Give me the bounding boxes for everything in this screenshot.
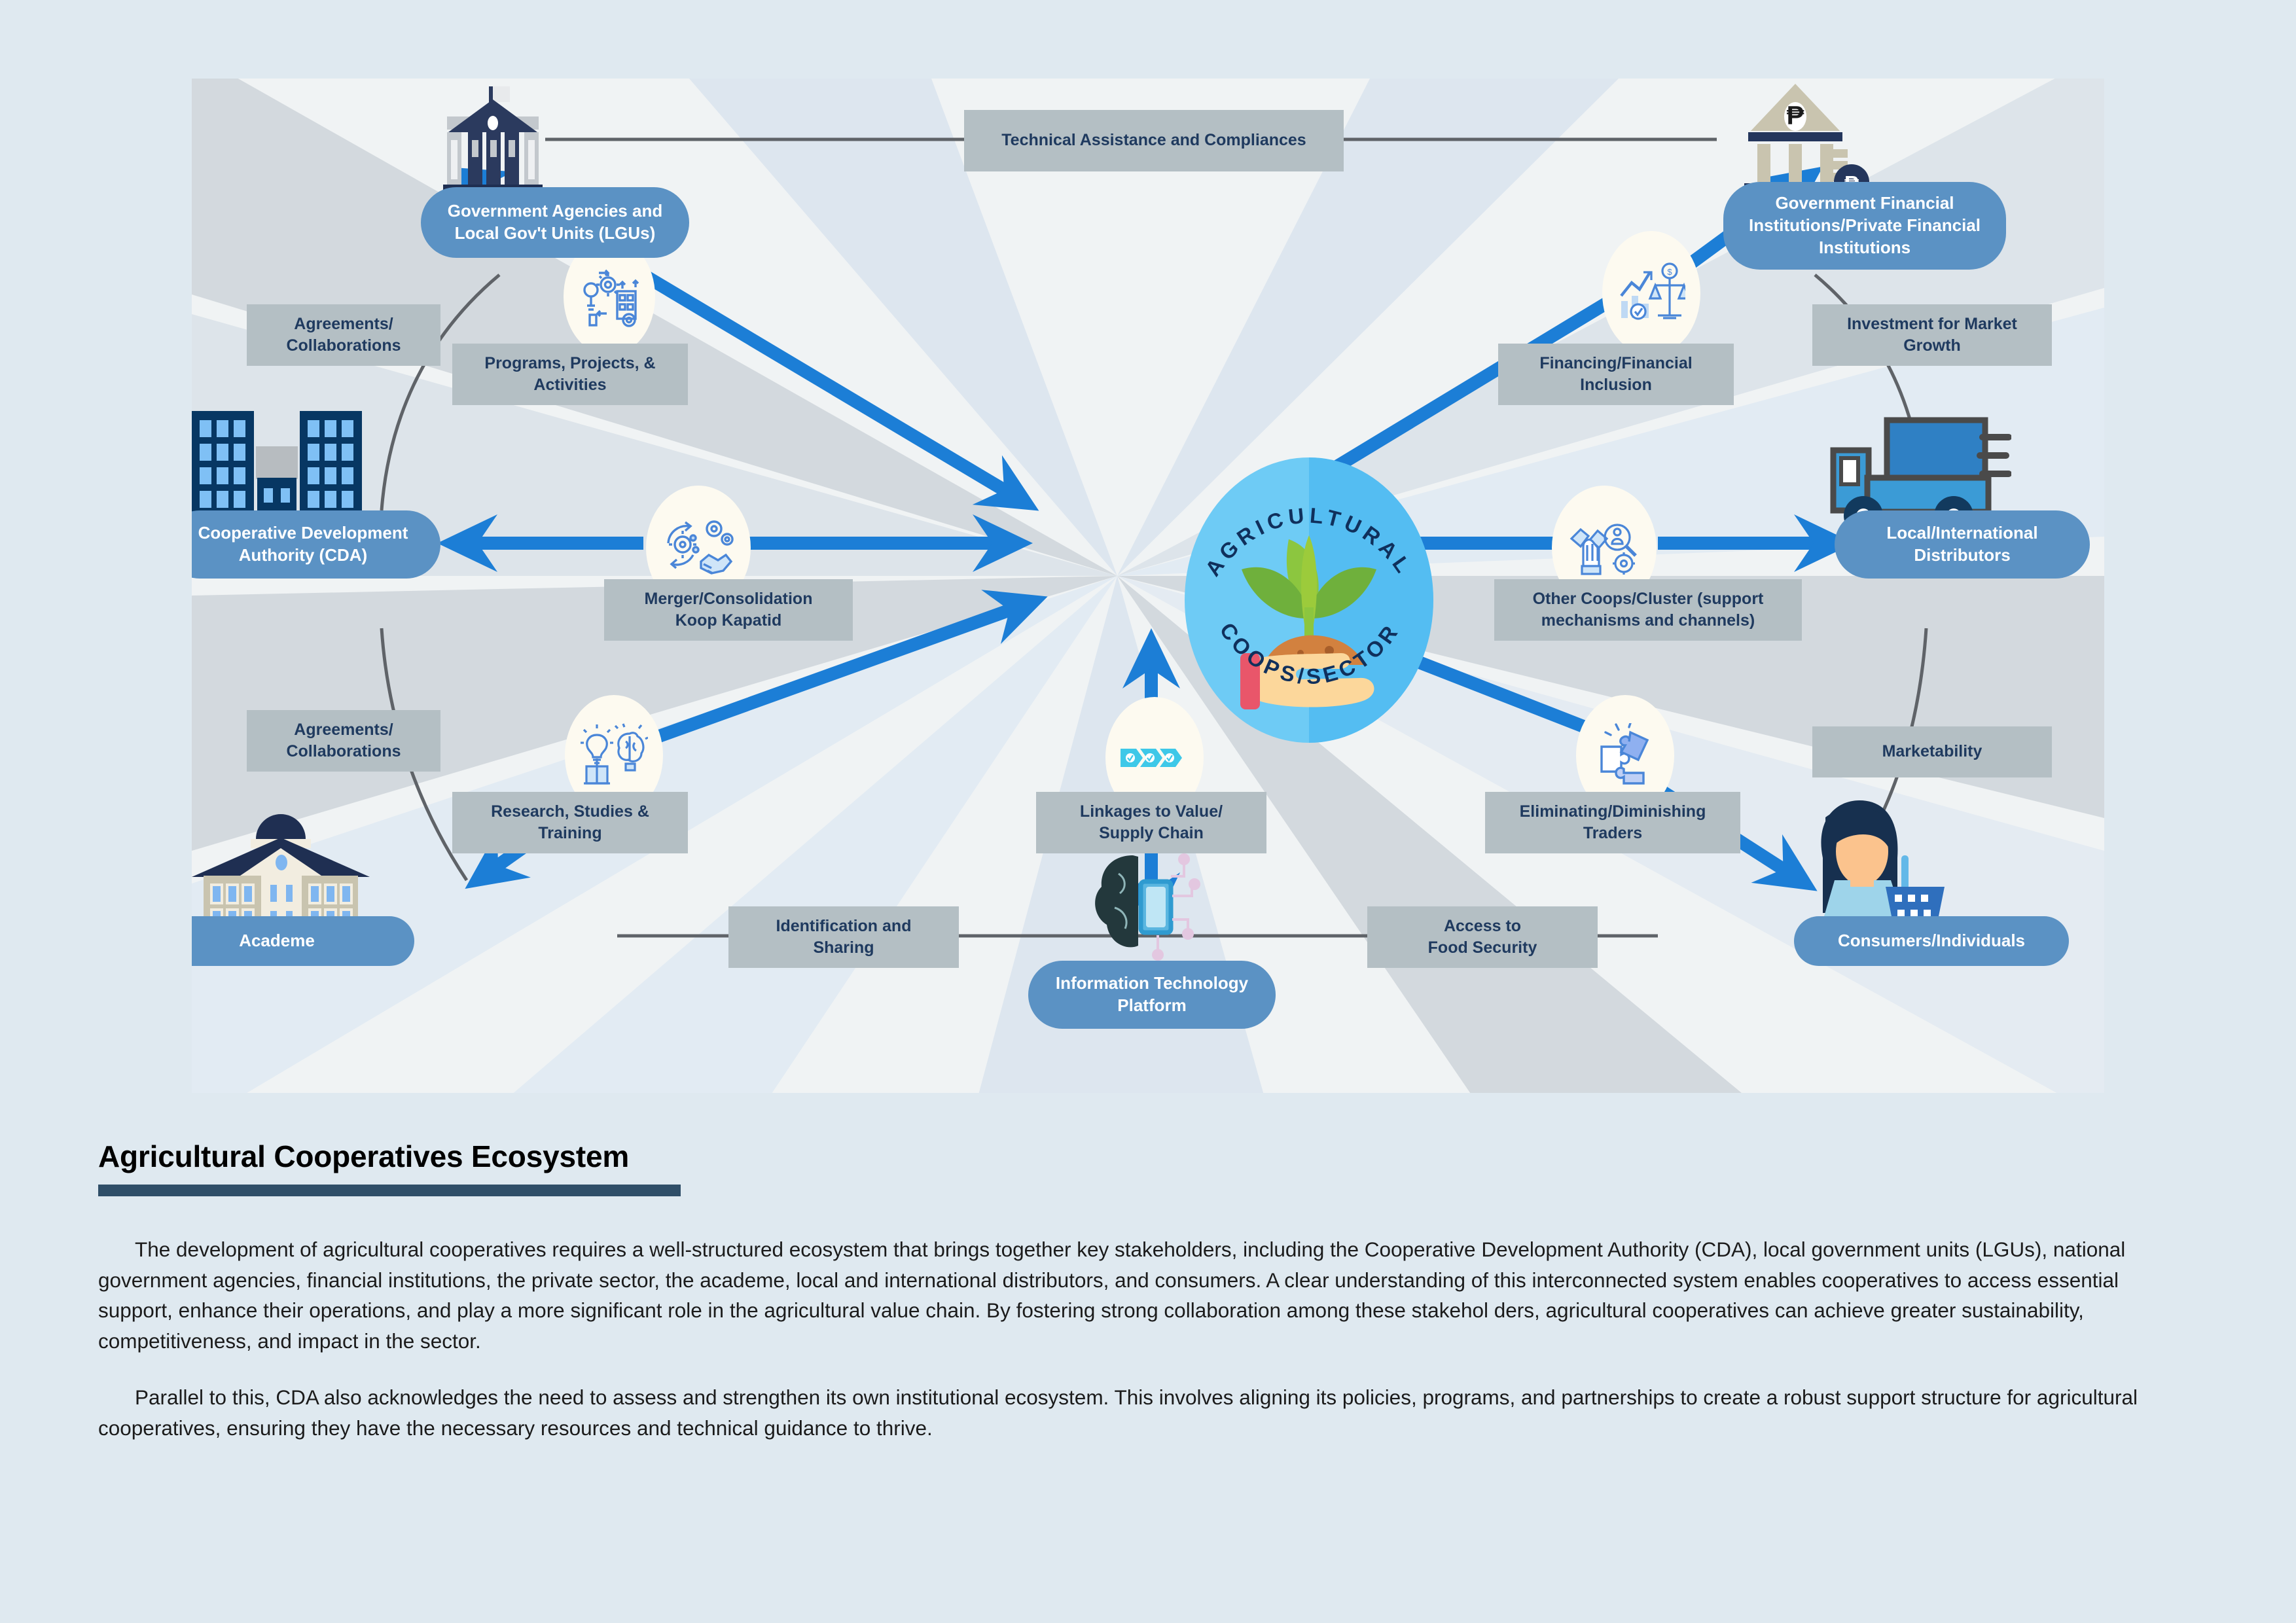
label-merger-consolidation: Merger/Consolidation Koop Kapatid <box>604 579 853 641</box>
label-text: Programs, Projects, & Activities <box>484 353 655 397</box>
svg-text:$: $ <box>1667 267 1672 277</box>
node-academe[interactable]: Academe <box>192 916 414 966</box>
label-text: Linkages to Value/ Supply Chain <box>1080 801 1223 845</box>
shopper-with-basket-icon <box>1789 795 1952 936</box>
label-technical-assistance-and-compliances: Technical Assistance and Compliances <box>964 110 1344 171</box>
node-government-agencies[interactable]: Government Agencies and Local Gov't Unit… <box>421 187 689 258</box>
node-it-platform[interactable]: Information Technology Platform <box>1028 961 1276 1029</box>
label-text: Agreements/ Collaborations <box>286 313 401 357</box>
node-label: Information Technology Platform <box>1056 972 1248 1017</box>
label-text: Other Coops/Cluster (support mechanisms … <box>1533 588 1764 632</box>
node-label: Consumers/Individuals <box>1838 930 2025 952</box>
label-text: Eliminating/Diminishing Traders <box>1520 801 1706 845</box>
label-other-coops-cluster: Other Coops/Cluster (support mechanisms … <box>1494 579 1802 641</box>
label-marketability: Marketability <box>1812 726 2052 777</box>
brain-chip-icon <box>1086 847 1217 962</box>
growth-chart-scales-icon: $ <box>1602 231 1700 355</box>
label-linkages-value-supply-chain: Linkages to Value/ Supply Chain <box>1036 792 1266 853</box>
node-label: Local/International Distributors <box>1886 522 2037 567</box>
node-financial-institutions[interactable]: Government Financial Institutions/Privat… <box>1723 182 2006 270</box>
node-distributors[interactable]: Local/International Distributors <box>1835 510 2090 579</box>
label-text: Identification and Sharing <box>776 916 912 959</box>
article-section: Agricultural Cooperatives Ecosystem The … <box>98 1139 2179 1470</box>
node-cda[interactable]: Cooperative Development Authority (CDA) <box>192 510 440 579</box>
label-text: Investment for Market Growth <box>1847 313 2017 357</box>
label-access-to-food-security: Access to Food Security <box>1367 906 1598 968</box>
label-text: Marketability <box>1882 741 1982 763</box>
label-investment-for-market-growth: Investment for Market Growth <box>1812 304 2052 366</box>
label-text: Research, Studies & Training <box>491 801 649 845</box>
label-text: Access to Food Security <box>1428 916 1537 959</box>
label-text: Financing/Financial Inclusion <box>1539 353 1692 397</box>
ecosystem-diagram-panel: AGRICULTURAL COOPS/SECTOR <box>192 79 2104 1093</box>
node-label: Academe <box>239 930 315 952</box>
node-consumers[interactable]: Consumers/Individuals <box>1794 916 2069 966</box>
node-label: Government Agencies and Local Gov't Unit… <box>448 200 662 245</box>
page-title: Agricultural Cooperatives Ecosystem <box>98 1139 2179 1174</box>
label-agreements-collaborations-top: Agreements/ Collaborations <box>247 304 440 366</box>
label-research-studies-training: Research, Studies & Training <box>452 792 688 853</box>
title-underline-rule <box>98 1185 681 1196</box>
article-paragraph-1: The development of agricultural cooperat… <box>98 1234 2147 1356</box>
label-text: Agreements/ Collaborations <box>286 719 401 763</box>
label-programs-projects-activities: Programs, Projects, & Activities <box>452 344 688 405</box>
label-identification-and-sharing: Identification and Sharing <box>728 906 959 968</box>
node-label: Government Financial Institutions/Privat… <box>1749 192 1981 259</box>
article-paragraph-2: Parallel to this, CDA also acknowledges … <box>98 1382 2147 1443</box>
node-label: Cooperative Development Authority (CDA) <box>198 522 408 567</box>
label-agreements-collaborations-bottom: Agreements/ Collaborations <box>247 710 440 772</box>
label-text: Merger/Consolidation Koop Kapatid <box>645 588 813 632</box>
label-eliminating-diminishing-traders: Eliminating/Diminishing Traders <box>1485 792 1740 853</box>
label-text: Technical Assistance and Compliances <box>1001 130 1306 152</box>
central-hub: AGRICULTURAL COOPS/SECTOR <box>1184 457 1434 743</box>
label-financing-financial-inclusion: Financing/Financial Inclusion <box>1498 344 1734 405</box>
svg-text:₱: ₱ <box>1787 101 1804 130</box>
